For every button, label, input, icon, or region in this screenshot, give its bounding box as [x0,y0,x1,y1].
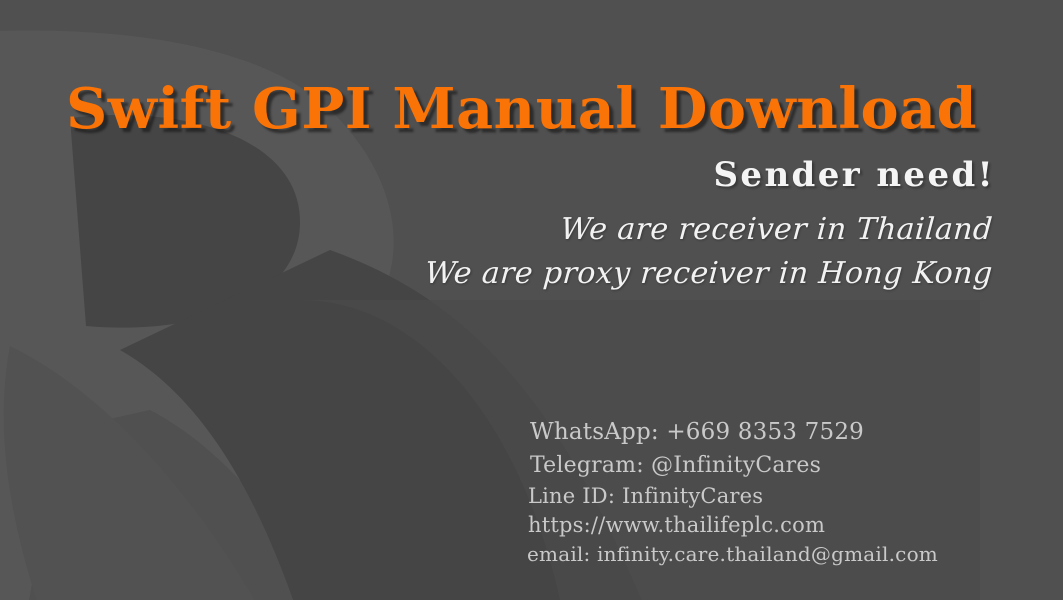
contact-whatsapp[interactable]: WhatsApp: +669 8353 7529 [530,416,938,450]
tagline-line-2: We are proxy receiver in Hong Kong [424,252,995,296]
watermark-r-counter [70,115,300,328]
contact-block: WhatsApp: +669 8353 7529 Telegram: @Infi… [530,416,938,569]
watermark-leaf-accent [4,346,260,600]
contact-line-id[interactable]: Line ID: InfinityCares [528,482,938,511]
contact-telegram[interactable]: Telegram: @InfinityCares [530,450,938,482]
contact-email[interactable]: email: infinity.care.thailand@gmail.com [527,540,938,569]
tagline-block: We are receiver in Thailand We are proxy… [425,208,993,296]
tagline-line-1: We are receiver in Thailand [424,208,995,252]
poster-canvas: Swift GPI Manual Download Sender need! W… [0,0,1063,600]
contact-website-url[interactable]: https://www.thailifeplc.com [528,511,938,540]
subtitle-sender-need: Sender need! [713,155,995,195]
page-title: Swift GPI Manual Download [66,78,1020,140]
